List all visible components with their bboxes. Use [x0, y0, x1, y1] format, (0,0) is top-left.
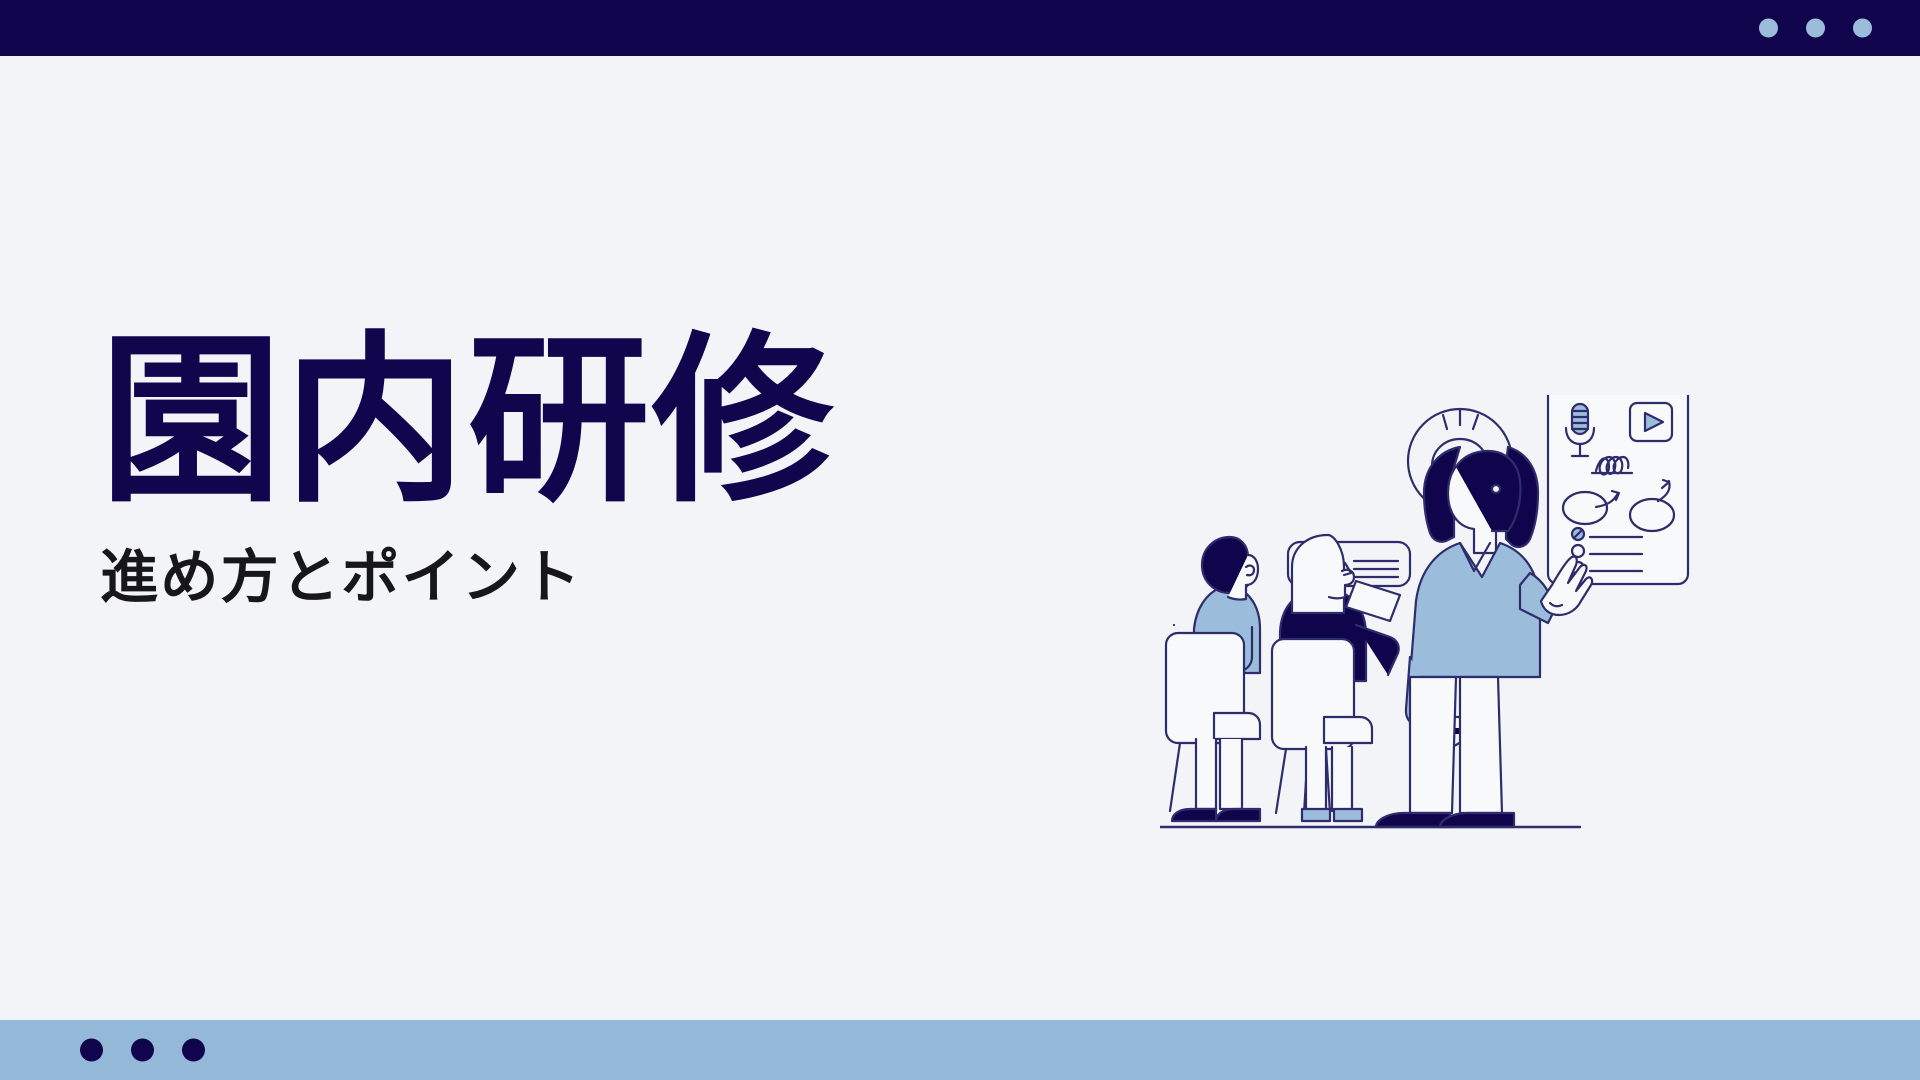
bottom-bar-dot-1	[80, 1039, 103, 1062]
top-bar-dot-3	[1853, 19, 1872, 38]
seated-attendee-1	[1166, 537, 1260, 821]
play-button-icon	[1630, 403, 1672, 441]
bottom-bar-dot-2	[131, 1039, 154, 1062]
training-seminar-illustration	[1160, 395, 1720, 995]
page-title: 園内研修	[100, 330, 1020, 512]
slide-canvas: 園内研修 進め方とポイント	[0, 0, 1920, 1080]
top-bar-dots	[1759, 19, 1872, 38]
bottom-bar-dot-3	[182, 1039, 205, 1062]
presentation-board	[1548, 395, 1688, 584]
heading-block: 園内研修 進め方とポイント	[100, 330, 1020, 610]
page-subtitle: 進め方とポイント	[100, 546, 1020, 610]
bottom-bar-dots	[80, 1039, 205, 1062]
top-bar	[0, 0, 1920, 56]
top-bar-dot-1	[1759, 19, 1778, 38]
bottom-bar	[0, 1020, 1920, 1080]
top-bar-dot-2	[1806, 19, 1825, 38]
